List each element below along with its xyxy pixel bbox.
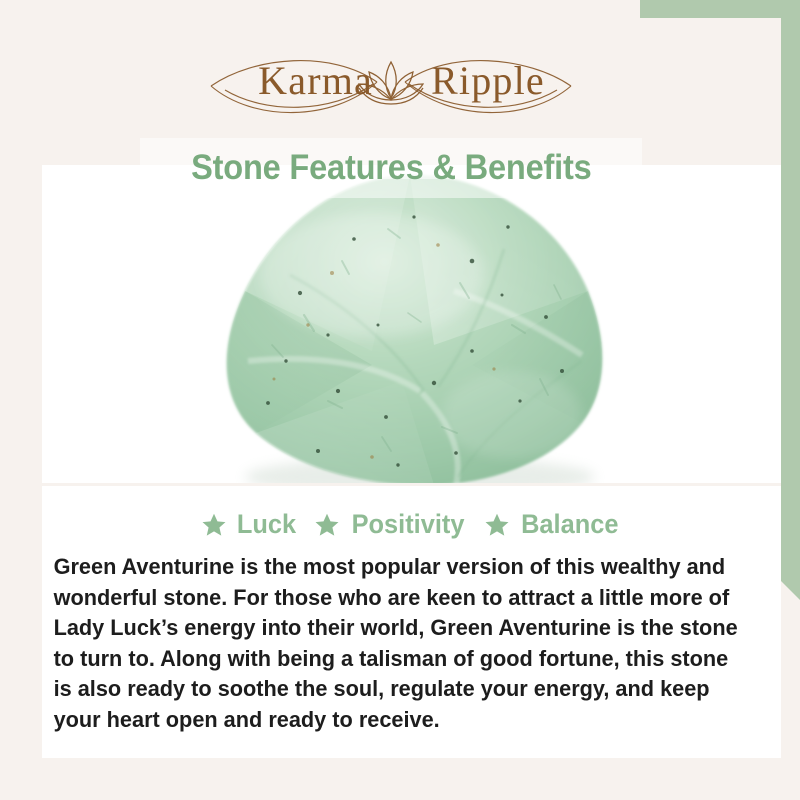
infographic-page: Karma Ripple Stone Features & Benefits [0,0,800,800]
feature-label: Positivity [352,509,465,540]
star-icon [484,512,510,538]
feature-item-luck: Luck [201,509,298,540]
feature-item-positivity: Positivity [314,509,468,540]
brand-logo: Karma Ripple [0,18,781,126]
section-title-band: Stone Features & Benefits [140,138,642,198]
brand-name-right: Ripple [431,58,545,103]
star-icon [314,512,340,538]
stone-photo-svg [42,165,781,483]
stone-photo: Green Aventurine [42,165,781,483]
feature-item-balance: Balance [484,509,622,540]
page-title: Stone Features & Benefits [191,148,592,188]
brand-name-left: Karma [258,58,373,103]
feature-label: Balance [521,509,618,540]
frame-green-right-bar [781,0,800,600]
brand-logo-svg: Karma Ripple [181,26,601,118]
star-icon [201,512,227,538]
feature-label: Luck [237,509,296,540]
stone-description: Green Aventurine is the most popular ver… [42,552,755,735]
feature-list: Luck Positivity Balance [42,486,781,540]
stone-details: Luck Positivity Balance Green Aventurine… [42,486,781,758]
